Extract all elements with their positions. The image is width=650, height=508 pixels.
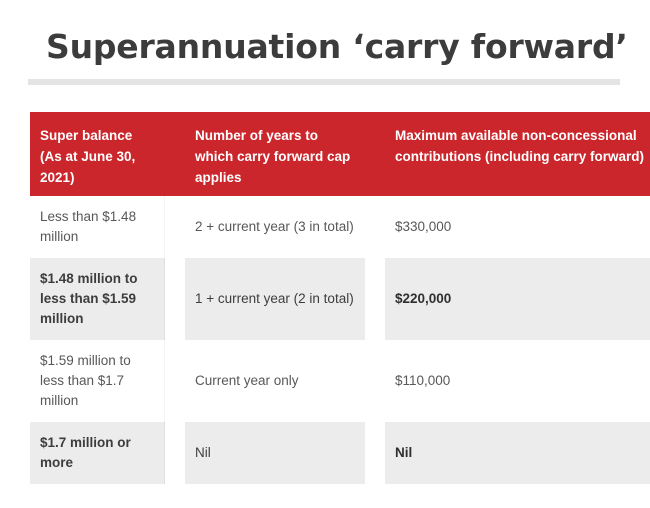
cell-years: 1 + current year (2 in total)	[185, 258, 365, 340]
cell-years: 2 + current year (3 in total)	[185, 196, 365, 258]
row-column-gap-2	[365, 340, 385, 422]
page-title: Superannuation ‘carry forward’	[46, 24, 626, 70]
cell-years: Current year only	[185, 340, 365, 422]
table-header-row: Super balance (As at June 30, 2021) Numb…	[30, 112, 618, 196]
header-column-gap-2	[365, 112, 385, 196]
cell-years: Nil	[185, 422, 365, 484]
cell-maximum: Nil	[385, 422, 650, 484]
table-row: $1.48 million to less than $1.59 million…	[30, 258, 618, 340]
column-header-super-balance: Super balance (As at June 30, 2021)	[30, 112, 165, 196]
title-divider	[28, 79, 620, 85]
row-column-gap-2	[365, 258, 385, 340]
cell-super-balance: $1.7 million or more	[30, 422, 165, 484]
table-row: $1.7 million or more Nil Nil	[30, 422, 618, 484]
cell-super-balance: $1.59 million to less than $1.7 million	[30, 340, 165, 422]
row-column-gap-1	[165, 196, 185, 258]
table-row: Less than $1.48 million 2 + current year…	[30, 196, 618, 258]
row-column-gap-2	[365, 196, 385, 258]
row-column-gap-1	[165, 258, 185, 340]
cell-maximum: $330,000	[385, 196, 650, 258]
table-row: $1.59 million to less than $1.7 million …	[30, 340, 618, 422]
row-column-gap-2	[365, 422, 385, 484]
header-column-gap-1	[165, 112, 185, 196]
column-header-years: Number of years to which carry forward c…	[185, 112, 365, 196]
carry-forward-table: Super balance (As at June 30, 2021) Numb…	[30, 112, 618, 484]
cell-super-balance: Less than $1.48 million	[30, 196, 165, 258]
column-header-maximum: Maximum available non-concessional contr…	[385, 112, 650, 196]
row-column-gap-1	[165, 422, 185, 484]
row-column-gap-1	[165, 340, 185, 422]
cell-maximum: $220,000	[385, 258, 650, 340]
cell-super-balance: $1.48 million to less than $1.59 million	[30, 258, 165, 340]
infographic-page: Superannuation ‘carry forward’ Super bal…	[0, 0, 650, 508]
cell-maximum: $110,000	[385, 340, 650, 422]
